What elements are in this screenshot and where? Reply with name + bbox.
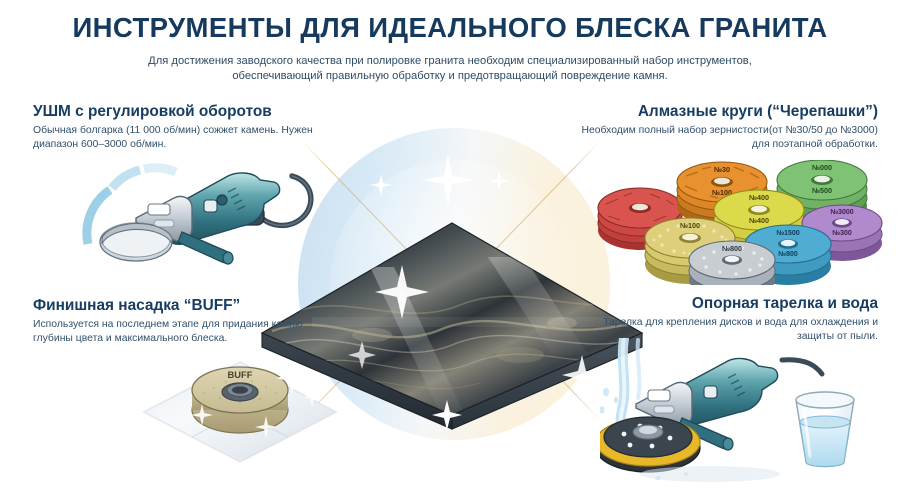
disc-grey: №800 (689, 241, 775, 285)
section-heading-grinder: УШМ с регулировкой оборотов (33, 103, 272, 121)
section-heading-plate: Опорная тарелка и вода (692, 295, 878, 313)
angle-grinder-illustration (78, 148, 328, 273)
disc-label: №400 (749, 216, 769, 225)
disc-label: №1500 (776, 229, 799, 237)
page-title: ИНСТРУМЕНТЫ ДЛЯ ИДЕАЛЬНОГО БЛЕСКА ГРАНИТ… (0, 12, 900, 44)
disc-label: №30 (714, 165, 730, 174)
disc-label: №3000 (830, 208, 853, 216)
disc-label: №300 (832, 229, 852, 237)
disc-label: №100 (680, 221, 700, 230)
buff-pad-label: BUFF (228, 369, 253, 380)
section-heading-buff: Финишная насадка “BUFF” (33, 297, 240, 315)
water-cup (796, 392, 854, 467)
disc-label: №000 (812, 163, 832, 172)
disc-label: №800 (722, 244, 742, 253)
section-heading-discs: Алмазные круги (“Черепашки”) (638, 103, 878, 121)
page-subtitle: Для достижения заводского качества при п… (110, 54, 790, 84)
disc-label: №500 (812, 186, 832, 195)
diamond-disc-set-illustration: №30 №100 №000 №500 (592, 160, 884, 290)
buff-pad-illustration: BUFF (140, 338, 350, 473)
wet-polishing-illustration (600, 338, 890, 493)
section-body-discs: Необходим полный набор зернистости(от №3… (578, 124, 878, 152)
infographic-canvas: ИНСТРУМЕНТЫ ДЛЯ ИДЕАЛЬНОГО БЛЕСКА ГРАНИТ… (0, 0, 900, 502)
disc-label: №800 (778, 250, 798, 258)
disc-label: №400 (749, 193, 769, 202)
